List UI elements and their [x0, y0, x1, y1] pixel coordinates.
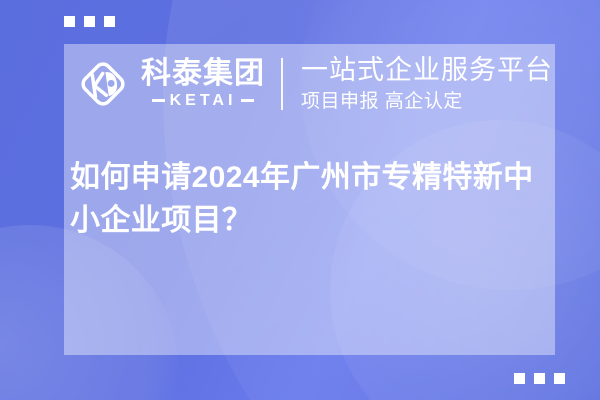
tagline-primary: 一站式企业服务平台 — [301, 55, 553, 87]
brand-logo-lockup: 科泰集团 KETAI — [74, 55, 265, 113]
decorative-dots-top-left — [64, 16, 115, 27]
brand-name-en: KETAI — [170, 93, 237, 109]
brand-wordmark: 科泰集团 KETAI — [141, 59, 265, 109]
square-dot-icon — [514, 373, 525, 384]
tagline-block: 一站式企业服务平台 项目申报 高企认定 — [301, 55, 553, 114]
wordmark-rule-right — [241, 99, 254, 102]
headline-title: 如何申请2024年广州市专精特新中小企业项目？ — [70, 157, 550, 242]
wordmark-rule-left — [152, 99, 165, 102]
square-dot-icon — [104, 16, 115, 27]
decorative-dots-bottom-right — [514, 373, 565, 384]
tagline-secondary: 项目申报 高企认定 — [301, 90, 553, 114]
promo-banner: 科泰集团 KETAI 一站式企业服务平台 项目申报 高企认定 如何申请2024年… — [0, 0, 600, 400]
background-blob-left — [0, 225, 180, 400]
square-dot-icon — [554, 373, 565, 384]
square-dot-icon — [534, 373, 545, 384]
banner-header: 科泰集团 KETAI 一站式企业服务平台 项目申报 高企认定 — [64, 44, 555, 124]
header-divider — [281, 58, 283, 110]
ketai-diamond-kd-logo-icon — [74, 55, 132, 113]
brand-name-cn: 科泰集团 — [141, 59, 265, 90]
brand-name-en-row: KETAI — [152, 93, 255, 109]
square-dot-icon — [84, 16, 95, 27]
square-dot-icon — [64, 16, 75, 27]
